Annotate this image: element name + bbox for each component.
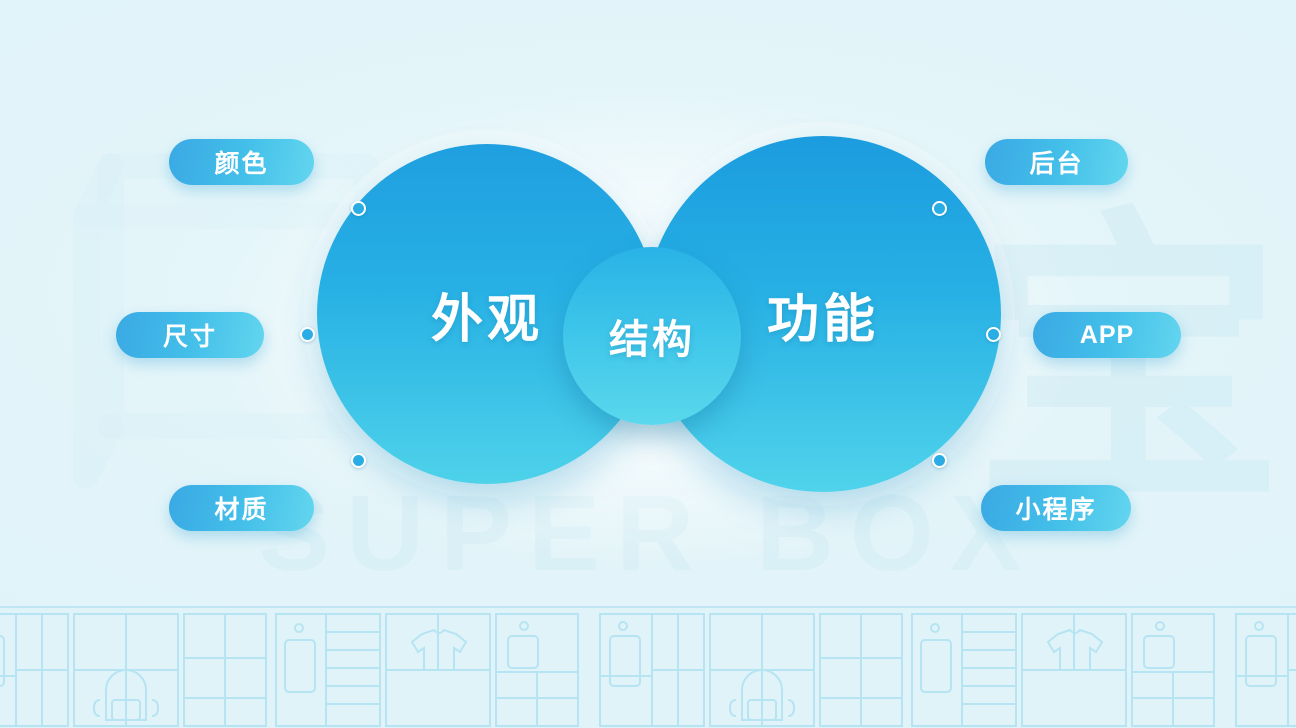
connector-dot-miniprogram[interactable]	[932, 453, 947, 468]
pill-color[interactable]: 颜色	[169, 139, 314, 185]
pill-material-label: 材质	[214, 490, 268, 526]
pill-miniprogram[interactable]: 小程序	[981, 485, 1131, 531]
pill-color-label: 颜色	[214, 144, 268, 180]
circle-appearance-label: 外观	[431, 277, 543, 352]
circle-structure-label: 结构	[609, 307, 695, 365]
pill-miniprogram-label: 小程序	[1015, 490, 1096, 526]
connector-dot-app[interactable]	[986, 327, 1001, 342]
pill-material[interactable]: 材质	[169, 485, 314, 531]
circle-function-label: 功能	[767, 277, 879, 352]
connector-dot-backend[interactable]	[932, 201, 947, 216]
connector-dot-color[interactable]	[351, 201, 366, 216]
locker-pattern	[0, 608, 1296, 728]
pill-size-label: 尺寸	[163, 317, 217, 353]
connector-dot-size[interactable]	[300, 327, 315, 342]
diagram-canvas: 宝 SUPER BOX 外观 功能 结构 颜色 尺寸 材质 后台 APP 小程序	[0, 0, 1296, 728]
pill-backend[interactable]: 后台	[985, 139, 1128, 185]
circle-structure[interactable]: 结构	[563, 247, 741, 425]
footer-locker-strip	[0, 606, 1296, 728]
pill-backend-label: 后台	[1029, 144, 1083, 180]
pill-app[interactable]: APP	[1033, 312, 1181, 358]
pill-size[interactable]: 尺寸	[116, 312, 264, 358]
pill-app-label: APP	[1080, 321, 1134, 350]
connector-dot-material[interactable]	[351, 453, 366, 468]
